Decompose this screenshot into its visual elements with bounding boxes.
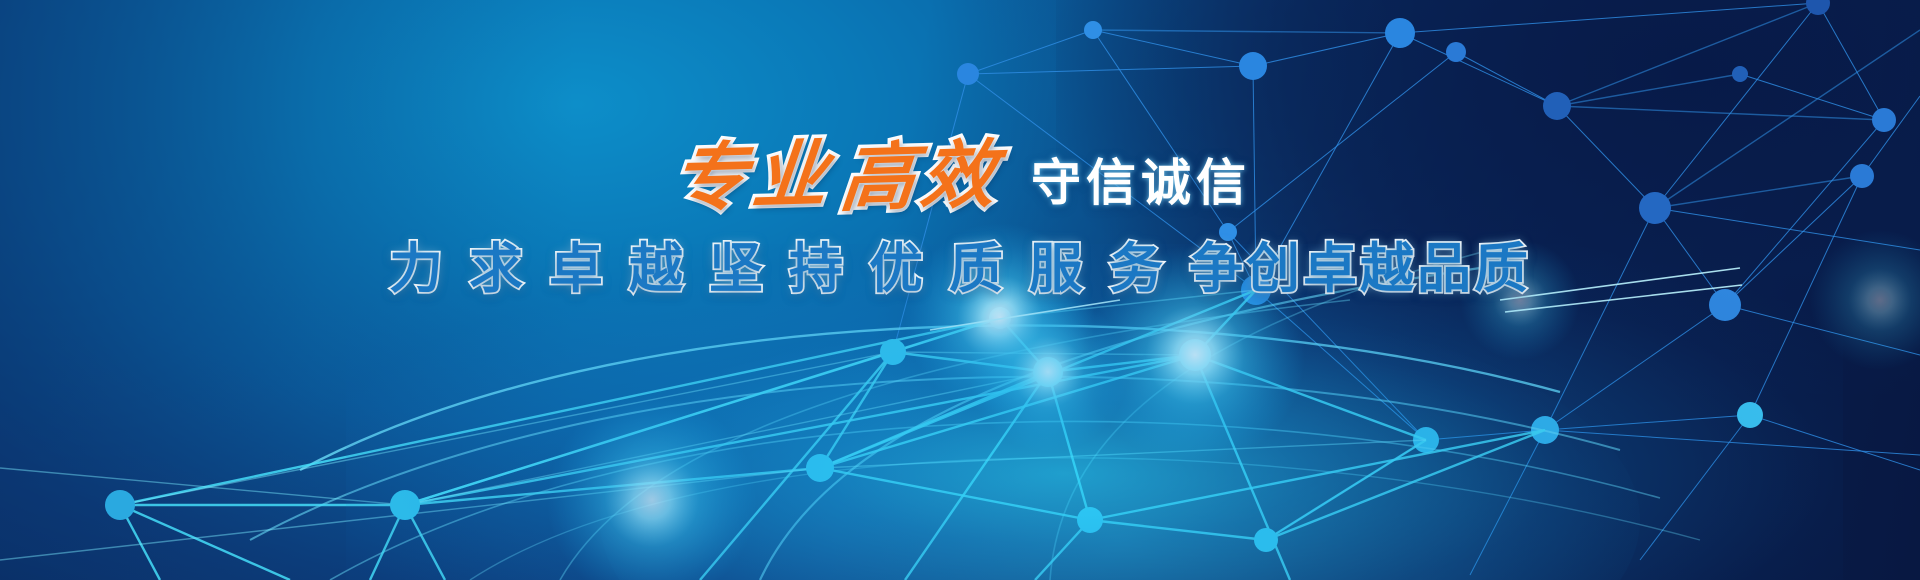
background-vignette	[0, 0, 1920, 580]
promo-banner: 专业 高效 守信诚信 力求卓越坚持优质服务争创卓越品质	[0, 0, 1920, 580]
